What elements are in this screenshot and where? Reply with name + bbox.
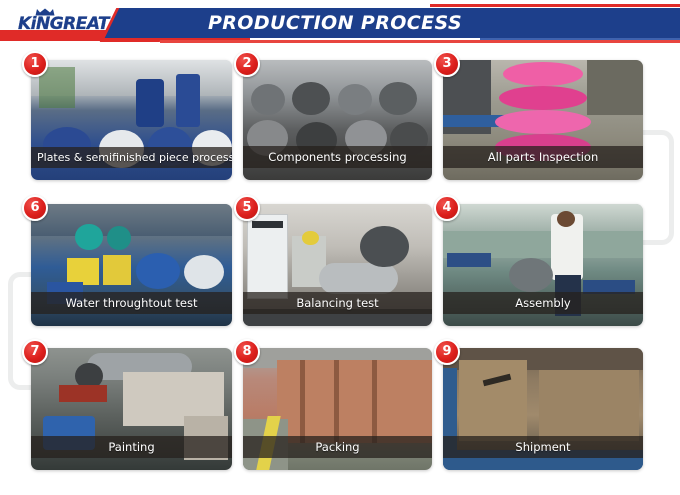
- photo-detail: [539, 370, 639, 441]
- photo-detail: [107, 226, 131, 250]
- brand-logo-text: KiNGREAT: [18, 14, 109, 34]
- photo-detail: [252, 221, 282, 228]
- process-step-card[interactable]: Balancing test 5: [243, 204, 432, 326]
- step-caption: Painting: [31, 436, 232, 458]
- photo-detail: [300, 360, 306, 443]
- step-number-badge: 6: [22, 195, 48, 221]
- photo-detail: [176, 74, 200, 127]
- brand-logo: KiNGREAT: [12, 8, 120, 40]
- photo-detail: [509, 258, 553, 292]
- photo-detail: [59, 385, 107, 402]
- step-number-badge: 2: [234, 51, 260, 77]
- photo-detail: [136, 79, 164, 127]
- process-steps-grid: Plates & semifinished piece processing 1…: [0, 52, 680, 495]
- step-number-badge: 8: [234, 339, 260, 365]
- photo-detail: [379, 82, 417, 116]
- step-number-badge: 7: [22, 339, 48, 365]
- photo-detail: [184, 255, 224, 289]
- photo-detail: [136, 253, 180, 290]
- photo-detail: [459, 360, 527, 441]
- step-number-badge: 3: [434, 51, 460, 77]
- photo-detail: [360, 226, 409, 267]
- step-number-badge: 9: [434, 339, 460, 365]
- photo-detail: [39, 67, 75, 108]
- photo-detail: [334, 360, 340, 443]
- process-step-card[interactable]: All parts Inspection 3: [443, 60, 643, 180]
- process-step-card[interactable]: Assembly 4: [443, 204, 643, 326]
- step-caption: Packing: [243, 436, 432, 458]
- step-caption: Plates & semifinished piece processing: [31, 147, 232, 168]
- photo-detail: [447, 253, 491, 268]
- step-number-badge: 1: [22, 51, 48, 77]
- process-step-card[interactable]: Components processing 2: [243, 60, 432, 180]
- photo-detail: [31, 204, 232, 236]
- process-step-card[interactable]: Plates & semifinished piece processing 1: [31, 60, 232, 180]
- process-step-card[interactable]: Water throughtout test 6: [31, 204, 232, 326]
- photo-detail: [372, 360, 378, 443]
- step-caption: Balancing test: [243, 292, 432, 314]
- header-red-line-bottom: [160, 40, 680, 43]
- step-caption: Components processing: [243, 146, 432, 168]
- photo-detail: [499, 86, 587, 110]
- photo-detail: [251, 84, 285, 115]
- header-red-line-top: [430, 4, 680, 7]
- photo-detail: [302, 231, 319, 246]
- photo-detail: [292, 82, 330, 116]
- step-caption: Assembly: [443, 292, 643, 314]
- process-step-card[interactable]: Painting 7: [31, 348, 232, 470]
- process-step-card[interactable]: Packing 8: [243, 348, 432, 470]
- photo-detail: [587, 60, 643, 115]
- step-caption: All parts Inspection: [443, 146, 643, 168]
- page-title: PRODUCTION PROCESS: [170, 9, 500, 37]
- header-blue-line-bottom: [480, 38, 680, 40]
- photo-detail: [495, 110, 591, 134]
- step-caption: Water throughtout test: [31, 292, 232, 314]
- photo-detail: [338, 84, 372, 115]
- photo-detail: [103, 255, 131, 284]
- photo-detail: [67, 258, 99, 285]
- process-step-card[interactable]: Shipment 9: [443, 348, 643, 470]
- page-header: KiNGREAT PRODUCTION PROCESS: [0, 0, 680, 50]
- step-number-badge: 5: [234, 195, 260, 221]
- photo-detail: [319, 263, 398, 295]
- step-number-badge: 4: [434, 195, 460, 221]
- step-caption: Shipment: [443, 436, 643, 458]
- photo-detail: [443, 204, 643, 233]
- photo-detail: [503, 62, 583, 86]
- photo-detail: [75, 224, 103, 251]
